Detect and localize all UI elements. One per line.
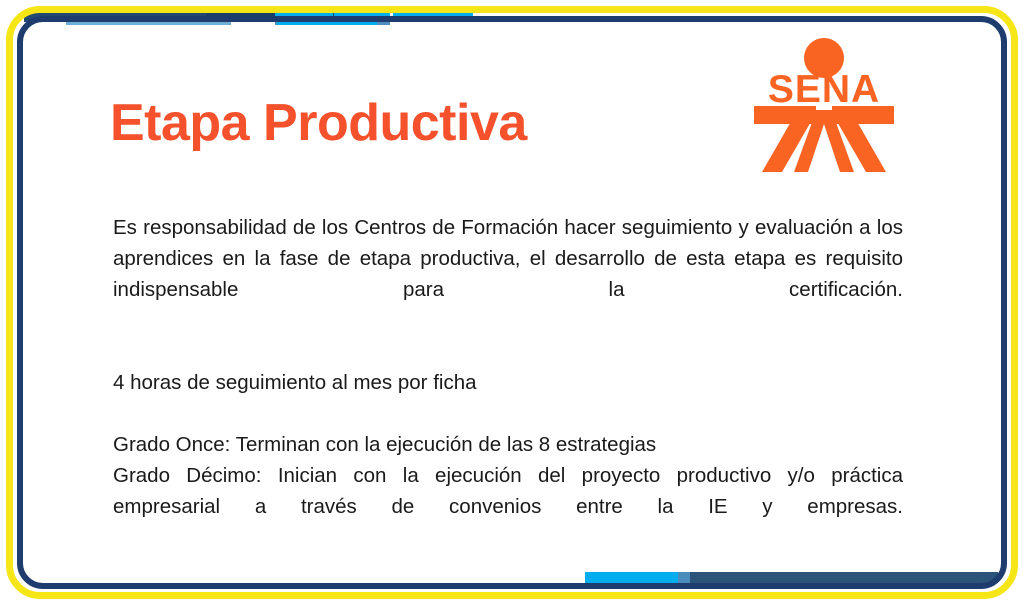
body-content: Es responsabilidad de los Centros de For… bbox=[113, 212, 903, 553]
paragraph-grado-once: Grado Once: Terminan con la ejecución de… bbox=[113, 429, 903, 460]
paragraph-responsabilidad: Es responsabilidad de los Centros de For… bbox=[113, 212, 903, 336]
top-bar-cyan-right bbox=[393, 11, 473, 22]
paragraph-grado-decimo: Grado Décimo: Inician con la ejecución d… bbox=[113, 460, 903, 553]
sena-logo: SENA bbox=[748, 36, 900, 176]
top-bar-steel-left bbox=[66, 18, 231, 25]
paragraph-spacer-2 bbox=[113, 398, 903, 429]
bottom-bar-steel-thin bbox=[700, 583, 760, 589]
paragraph-spacer-1 bbox=[113, 336, 903, 367]
slide-canvas: Etapa Productiva SENA Es responsabilidad… bbox=[0, 0, 1024, 605]
bottom-bar-cyan bbox=[585, 572, 678, 583]
page-title: Etapa Productiva bbox=[110, 93, 527, 153]
sena-logo-notch bbox=[816, 104, 832, 110]
bottom-bar-navy bbox=[690, 572, 998, 583]
top-bar-cyan-c bbox=[277, 18, 377, 25]
paragraph-horas-seguimiento: 4 horas de seguimiento al mes por ficha bbox=[113, 367, 903, 398]
